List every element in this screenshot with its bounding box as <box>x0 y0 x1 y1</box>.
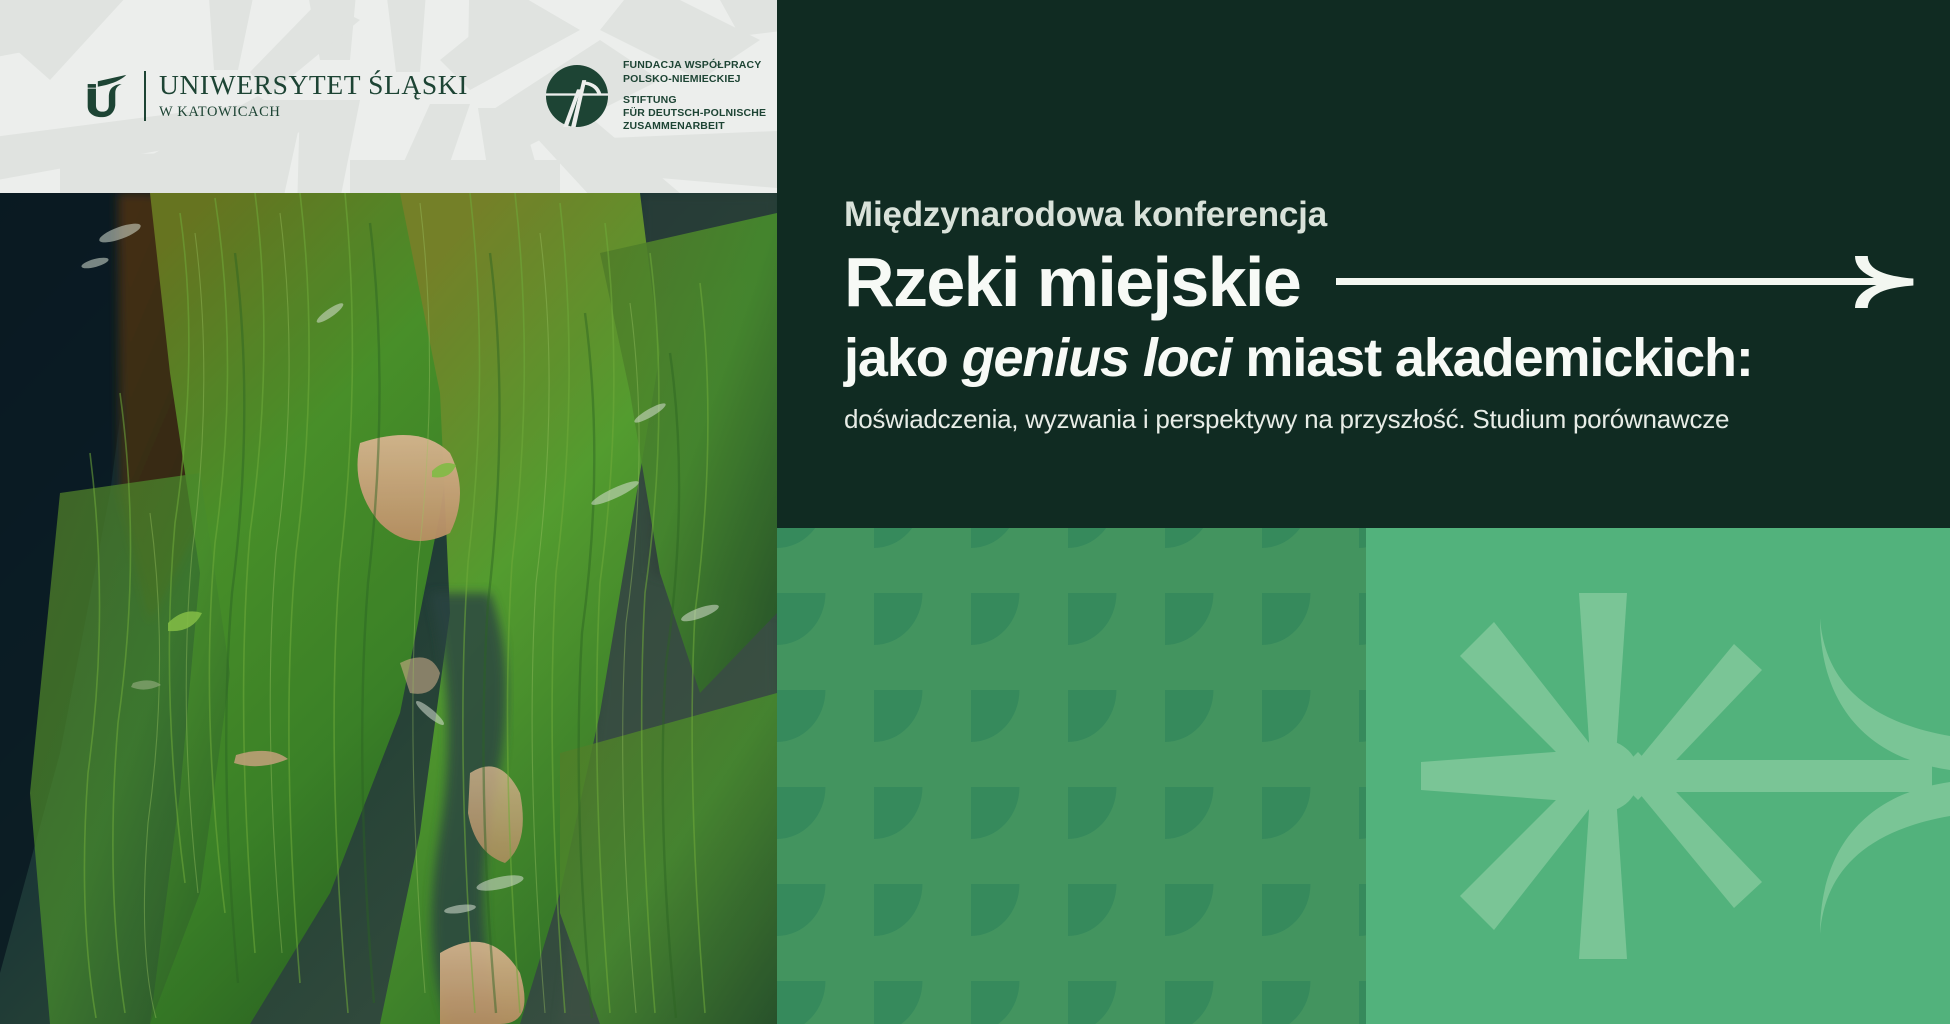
logo-divider-rule <box>144 71 146 121</box>
left-column: UNIWERSYTET ŚLĄSKI W KATOWICACH <box>0 0 777 1024</box>
university-city: W KATOWICACH <box>159 102 468 124</box>
title-sub-post: miast akademickich: <box>1232 328 1753 388</box>
long-right-arrow-icon <box>1336 254 1920 310</box>
university-name: UNIWERSYTET ŚLĄSKI <box>159 70 468 99</box>
wave-pattern-panel <box>777 528 1366 1024</box>
foundation-de-line-3: ZUSAMMENARBEIT <box>623 120 766 133</box>
foundation-de-line-1: STIFTUNG <box>623 94 766 107</box>
university-wordmark: UNIWERSYTET ŚLĄSKI W KATOWICACH <box>159 70 468 124</box>
title-sub-pre: jako <box>844 328 962 388</box>
foundation-name-de: STIFTUNG FÜR DEUTSCH-POLNISCHE ZUSAMMENA… <box>623 94 766 134</box>
headline-row: Rzeki miejskie <box>844 247 1920 317</box>
wave-scallop-pattern <box>777 528 1366 1024</box>
logo-header-band: UNIWERSYTET ŚLĄSKI W KATOWICACH <box>0 0 777 193</box>
title-panel: Międzynarodowa konferencja Rzeki miejski… <box>777 0 1950 528</box>
foundation-name-pl: FUNDACJA WSPÓŁPRACY POLSKO-NIEMIECKIEJ <box>623 59 766 86</box>
title-sub-italic: genius loci <box>962 328 1232 388</box>
uniwersytet-slaski-monogram-icon <box>84 73 130 119</box>
arrow-container <box>1336 254 1920 310</box>
title-block: Międzynarodowa konferencja Rzeki miejski… <box>844 196 1920 435</box>
foundation-de-line-2: FÜR DEUTSCH-POLNISCHE <box>623 107 766 120</box>
university-logo-lockup: UNIWERSYTET ŚLĄSKI W KATOWICACH <box>84 70 468 124</box>
logo-row: UNIWERSYTET ŚLĄSKI W KATOWICACH <box>0 0 777 193</box>
foundation-pl-line-1: FUNDACJA WSPÓŁPRACY <box>623 59 766 72</box>
conference-subtitle: doświadczenia, wyzwania i perspektywy na… <box>844 403 1920 436</box>
asterisk-burst-arrow-graphic <box>1366 528 1950 1024</box>
foundation-logo-lockup: FUNDACJA WSPÓŁPRACY POLSKO-NIEMIECKIEJ S… <box>544 59 766 134</box>
fundacja-wspolpracy-polsko-niemieckiej-emblem-icon <box>544 63 610 129</box>
conference-title-sub: jako genius loci miast akademickich: <box>844 329 1920 387</box>
conference-poster: UNIWERSYTET ŚLĄSKI W KATOWICACH <box>0 0 1950 1024</box>
river-photograph-illustration <box>0 193 777 1024</box>
burst-graphic-panel <box>1366 528 1950 1024</box>
conference-title-main: Rzeki miejskie <box>844 247 1300 317</box>
river-photograph <box>0 193 777 1024</box>
foundation-pl-line-2: POLSKO-NIEMIECKIEJ <box>623 73 766 86</box>
conference-kicker: Międzynarodowa konferencja <box>844 196 1920 235</box>
foundation-wordmark: FUNDACJA WSPÓŁPRACY POLSKO-NIEMIECKIEJ S… <box>623 59 766 134</box>
